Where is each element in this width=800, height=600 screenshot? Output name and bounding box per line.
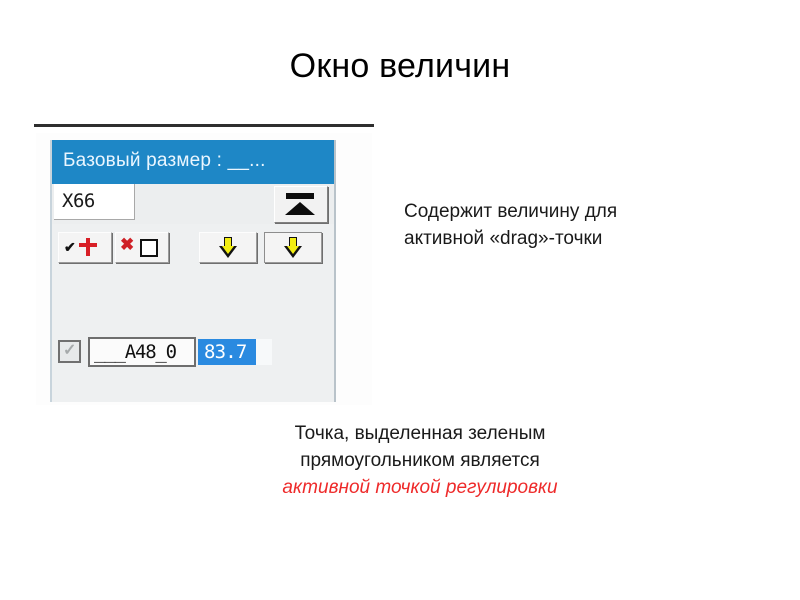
- value-name-text: ___A48_0: [94, 341, 176, 364]
- annotation-bottom: Точка, выделенная зеленым прямоугольнико…: [170, 420, 670, 501]
- dialog-tab-row: X66: [52, 184, 334, 224]
- accept-point-button[interactable]: ✔: [58, 232, 112, 263]
- dialog-titlebar: Базовый размер : __...: [52, 140, 334, 184]
- yellow-down-arrow-icon: [284, 237, 302, 258]
- base-size-tab-label: X66: [62, 190, 95, 212]
- annotation-right: Содержит величину для активной «drag»-то…: [404, 198, 744, 252]
- red-x-icon: ✖: [120, 236, 134, 253]
- empty-square-icon: [140, 239, 158, 257]
- annotation-bottom-line-2: прямоугольником является: [170, 447, 670, 474]
- collapse-up-icon-bar: [286, 193, 314, 199]
- annotation-bottom-emphasis: активной точкой регулировки: [170, 474, 670, 501]
- page-title: Окно величин: [0, 45, 800, 87]
- check-icon: ✔: [64, 240, 76, 254]
- yellow-down-arrow-icon: [219, 237, 237, 258]
- value-readout-field[interactable]: 83.7: [198, 339, 272, 365]
- move-down-button-1[interactable]: [199, 232, 257, 263]
- value-name-field[interactable]: ___A48_0: [88, 337, 196, 367]
- collapse-up-button[interactable]: [274, 186, 328, 223]
- checkmark-icon: ✓: [63, 341, 76, 361]
- base-size-tab[interactable]: X66: [54, 184, 135, 220]
- values-dialog: Базовый размер : __... X66 ✔ ✖: [50, 140, 336, 402]
- horizontal-divider: [34, 124, 374, 127]
- move-down-button-2[interactable]: [264, 232, 322, 263]
- annotation-bottom-line-1: Точка, выделенная зеленым: [170, 420, 670, 447]
- dialog-title-label: Базовый размер : __...: [63, 149, 266, 173]
- app-screenshot-image: Базовый размер : __... X66 ✔ ✖: [36, 133, 372, 405]
- reject-point-button[interactable]: ✖: [115, 232, 169, 263]
- value-row: ✓ ___A48_0 83.7: [52, 336, 334, 376]
- annotation-right-line-1: Содержит величину для: [404, 198, 744, 225]
- value-readout-text: 83.7: [204, 340, 247, 364]
- annotation-right-line-2: активной «drag»-точки: [404, 225, 744, 252]
- value-enabled-checkbox[interactable]: ✓: [58, 340, 81, 363]
- collapse-up-icon: [285, 202, 315, 215]
- dialog-toolbar: ✔ ✖: [52, 224, 334, 274]
- red-crosshair-marker-icon: [79, 238, 97, 256]
